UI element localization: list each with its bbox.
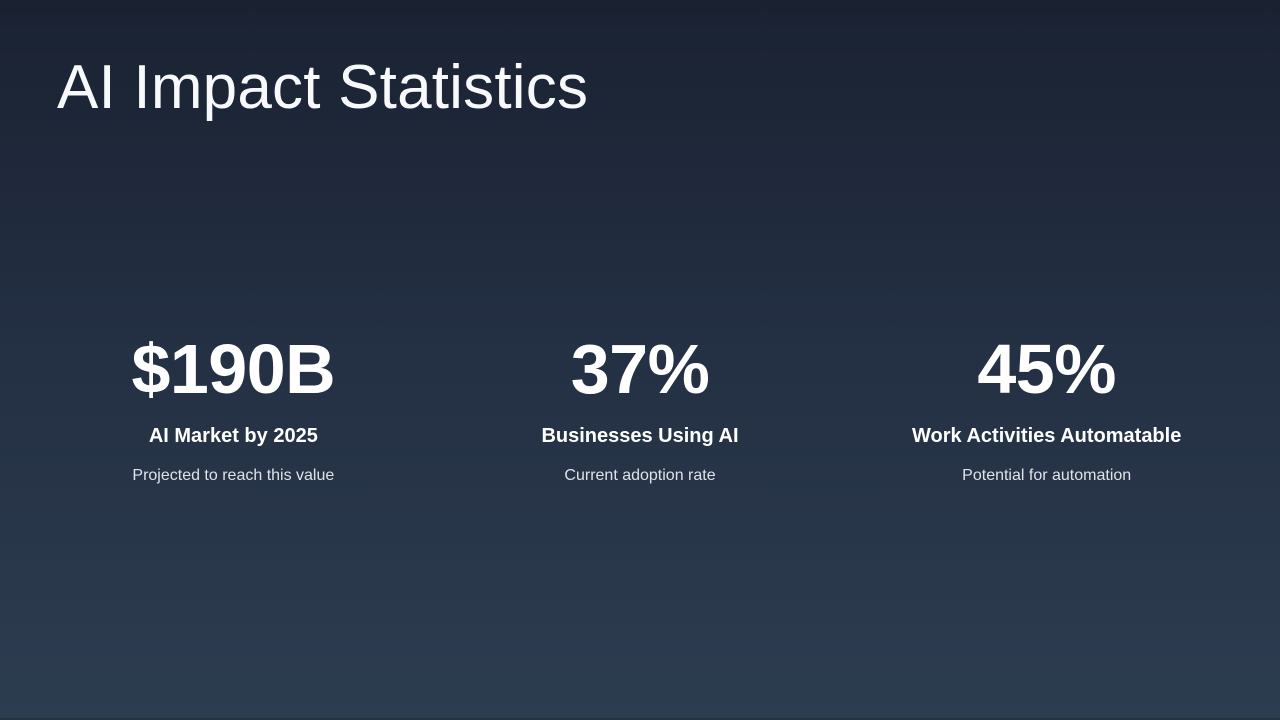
stat-description: Potential for automation <box>853 466 1240 485</box>
stat-value: $190B <box>40 330 427 408</box>
stat-label: AI Market by 2025 <box>40 424 427 448</box>
stat-value: 37% <box>447 330 834 408</box>
stat-value: 45% <box>853 330 1240 408</box>
stat-description: Projected to reach this value <box>40 466 427 485</box>
page-title: AI Impact Statistics <box>57 57 588 119</box>
stat-block-businesses-using-ai: 37% Businesses Using AI Current adoption… <box>437 330 844 486</box>
stat-label: Businesses Using AI <box>447 424 834 448</box>
statistics-row: $190B AI Market by 2025 Projected to rea… <box>30 330 1250 486</box>
stat-block-ai-market: $190B AI Market by 2025 Projected to rea… <box>30 330 437 486</box>
stat-description: Current adoption rate <box>447 466 834 485</box>
stat-label: Work Activities Automatable <box>853 424 1240 448</box>
stat-block-work-activities-automatable: 45% Work Activities Automatable Potentia… <box>843 330 1250 486</box>
presentation-slide: AI Impact Statistics $190B AI Market by … <box>0 0 1280 720</box>
